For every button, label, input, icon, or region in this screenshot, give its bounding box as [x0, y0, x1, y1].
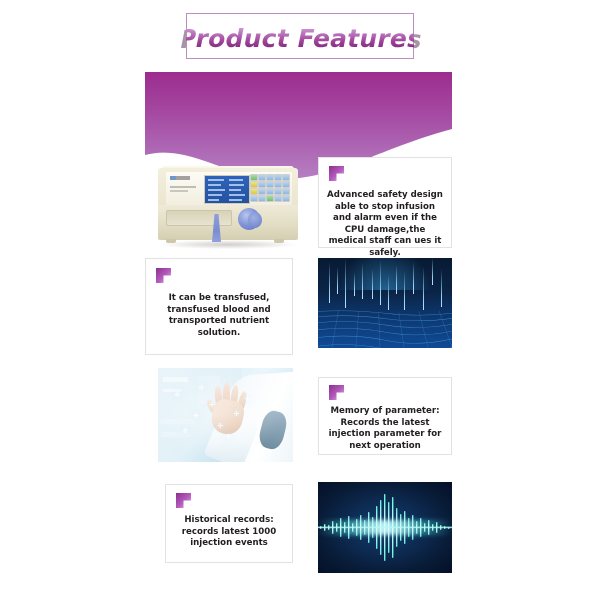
- sound-wave-bars: [318, 482, 452, 573]
- image-medical-touch: ✛ ✛ ✛ ✛ ✛ ✛ ✛ ✛ ✛: [158, 368, 293, 462]
- pump-keypad: [250, 174, 292, 204]
- feature-card-memory[interactable]: Memory of parameter: Records the latest …: [318, 377, 452, 455]
- tech-grid-glow: [338, 258, 432, 290]
- feature-card-history-text: Historical records: records latest 1000 …: [172, 515, 286, 550]
- feature-card-safety-text: Advanced safety design able to stop infu…: [325, 190, 445, 260]
- product-photo-syringe-pump: [152, 156, 304, 253]
- pump-lcd-screen: [204, 175, 250, 204]
- corner-bracket-icon: [329, 385, 344, 400]
- pump-model-text-2: [170, 190, 188, 192]
- corner-bracket-icon: [176, 493, 191, 508]
- feature-card-transfuse-text: It can be transfused, transfused blood a…: [152, 293, 286, 339]
- tech-grid-floor: [318, 307, 452, 348]
- corner-bracket-icon: [329, 166, 344, 181]
- feature-card-memory-text: Memory of parameter: Records the latest …: [325, 406, 445, 452]
- medical-touch-haze: [158, 368, 293, 462]
- pump-drive-wheel-inner: [248, 212, 262, 228]
- page-title: Product Features: [186, 20, 414, 56]
- corner-bracket-icon: [156, 268, 171, 283]
- pump-foot-left: [166, 239, 176, 243]
- feature-card-transfuse[interactable]: It can be transfused, transfused blood a…: [145, 258, 293, 355]
- pump-brand-logo: [170, 176, 190, 180]
- product-features-page: Product Features Product Features: [0, 0, 600, 600]
- feature-card-history[interactable]: Historical records: records latest 1000 …: [165, 484, 293, 563]
- image-tech-grid: [318, 258, 452, 348]
- image-sound-wave: [318, 482, 452, 573]
- pump-foot-right: [274, 239, 284, 243]
- feature-card-safety[interactable]: Advanced safety design able to stop infu…: [318, 157, 452, 248]
- pump-syringe-slot: [166, 210, 232, 226]
- pump-model-text: [170, 186, 196, 188]
